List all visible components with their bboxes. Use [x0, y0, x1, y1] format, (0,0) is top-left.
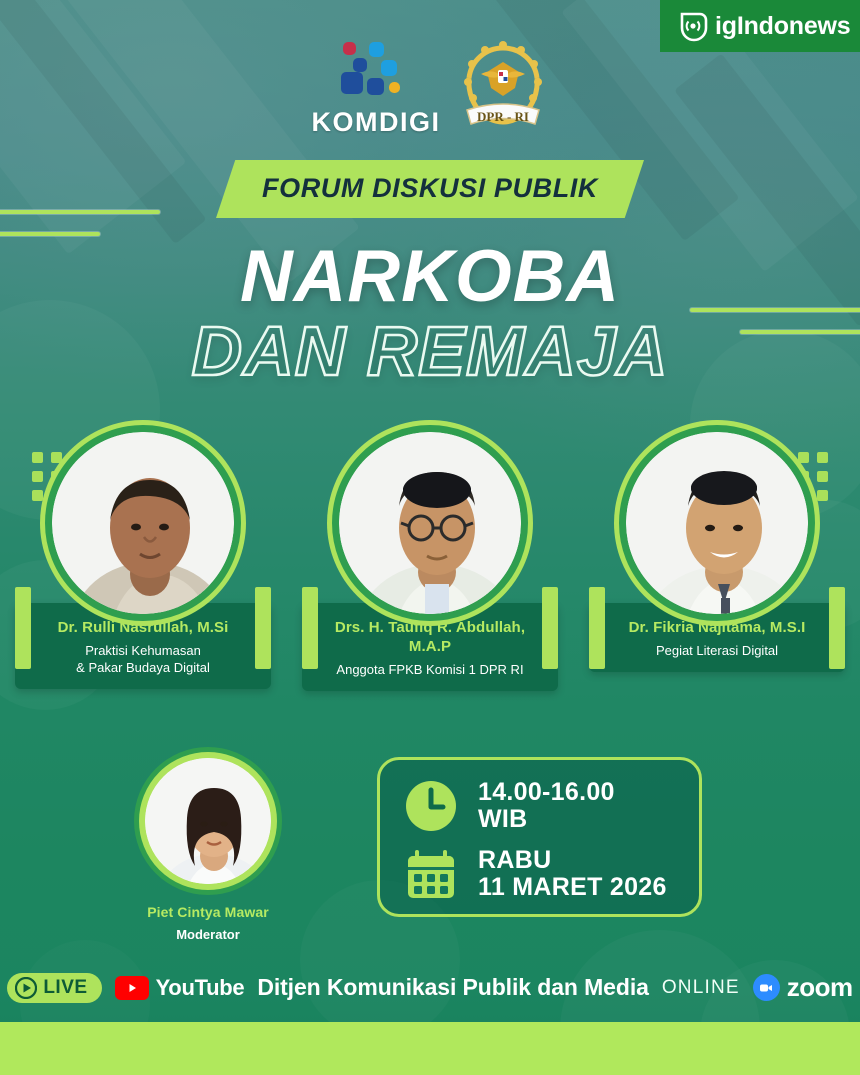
speaker-accent-bar-right [255, 587, 271, 669]
speaker-card: Dr. Rulli Nasrullah, M.Si Praktisi Kehum… [8, 425, 278, 691]
channel-name: Ditjen Komunikasi Publik dan Media [257, 974, 649, 1001]
youtube-play-icon [115, 976, 149, 1000]
zoom-label: zoom [787, 972, 853, 1003]
speaker-name: Drs. H. Taufiq R. Abdullah, M.A.P [312, 619, 548, 657]
play-icon [15, 977, 37, 999]
speaker-card: Dr. Fikria Najitama, M.S.I Pegiat Litera… [582, 425, 852, 691]
logo-row: KOMDIGI [0, 34, 860, 138]
speaker-photo-3 [619, 425, 815, 621]
moderator-name: Piet Cintya Mawar [147, 904, 269, 922]
calendar-icon [402, 845, 460, 903]
speaker-role: Praktisi Kehumasan & Pakar Budaya Digita… [25, 642, 261, 676]
speaker-role: Pegiat Literasi Digital [599, 642, 835, 659]
avatar [52, 432, 234, 614]
avatar [339, 432, 521, 614]
schedule-box: 14.00-16.00 WIB [377, 757, 702, 917]
svg-text:DPR - RI: DPR - RI [477, 109, 529, 124]
avatar [626, 432, 808, 614]
dpr-ri-emblem-icon: DPR - RI [457, 34, 549, 138]
youtube-logo[interactable]: YouTube [115, 975, 245, 1001]
footer-bar: LIVE YouTube Ditjen Komunikasi Publik da… [0, 972, 860, 1003]
speaker-accent-bar-left [302, 587, 318, 669]
speaker-accent-bar-left [589, 587, 605, 669]
speaker-accent-bar-right [829, 587, 845, 669]
online-label: ONLINE [662, 977, 740, 999]
avatar [145, 758, 271, 884]
headline-line-2: DAN REMAJA [0, 316, 860, 386]
speaker-accent-bar-left [15, 587, 31, 669]
headline-line-1: NARKOBA [0, 242, 860, 312]
schedule-date: RABU 11 MARET 2026 [478, 847, 667, 902]
komdigi-wordmark: KOMDIGI [312, 107, 441, 138]
poster-canvas: igIndonews KOMDIGI [0, 0, 860, 1075]
moderator-card: Piet Cintya Mawar Moderator [124, 752, 292, 943]
speaker-photo-2 [332, 425, 528, 621]
speaker-list: Dr. Rulli Nasrullah, M.Si Praktisi Kehum… [0, 425, 860, 691]
speaker-name: Dr. Fikria Najitama, M.S.I [599, 619, 835, 638]
decor-rule-left-2 [0, 232, 100, 236]
banner-forum-diskusi: FORUM DISKUSI PUBLIK [216, 160, 644, 218]
speaker-card: Drs. H. Taufiq R. Abdullah, M.A.P Anggot… [295, 425, 565, 691]
live-badge[interactable]: LIVE [7, 973, 101, 1003]
schedule-time: 14.00-16.00 WIB [478, 779, 615, 834]
youtube-label: YouTube [156, 975, 245, 1001]
zoom-camera-icon [753, 974, 780, 1001]
schedule-time-row: 14.00-16.00 WIB [402, 777, 685, 835]
banner-label: FORUM DISKUSI PUBLIK [262, 173, 598, 204]
komdigi-blocks-icon [333, 42, 419, 104]
headline: NARKOBA DAN REMAJA [0, 242, 860, 386]
speaker-name: Dr. Rulli Nasrullah, M.Si [25, 619, 261, 638]
speaker-accent-bar-right [542, 587, 558, 669]
speaker-photo-1 [45, 425, 241, 621]
schedule-date-row: RABU 11 MARET 2026 [402, 845, 685, 903]
moderator-role: Moderator [176, 926, 240, 943]
live-label: LIVE [43, 977, 87, 999]
moderator-photo [139, 752, 277, 890]
bottom-accent-bar [0, 1022, 860, 1075]
speaker-role: Anggota FPKB Komisi 1 DPR RI [312, 661, 548, 678]
komdigi-logo: KOMDIGI [312, 42, 441, 138]
zoom-logo[interactable]: zoom [753, 972, 853, 1003]
clock-icon [402, 777, 460, 835]
decor-rule-left-1 [0, 210, 160, 214]
